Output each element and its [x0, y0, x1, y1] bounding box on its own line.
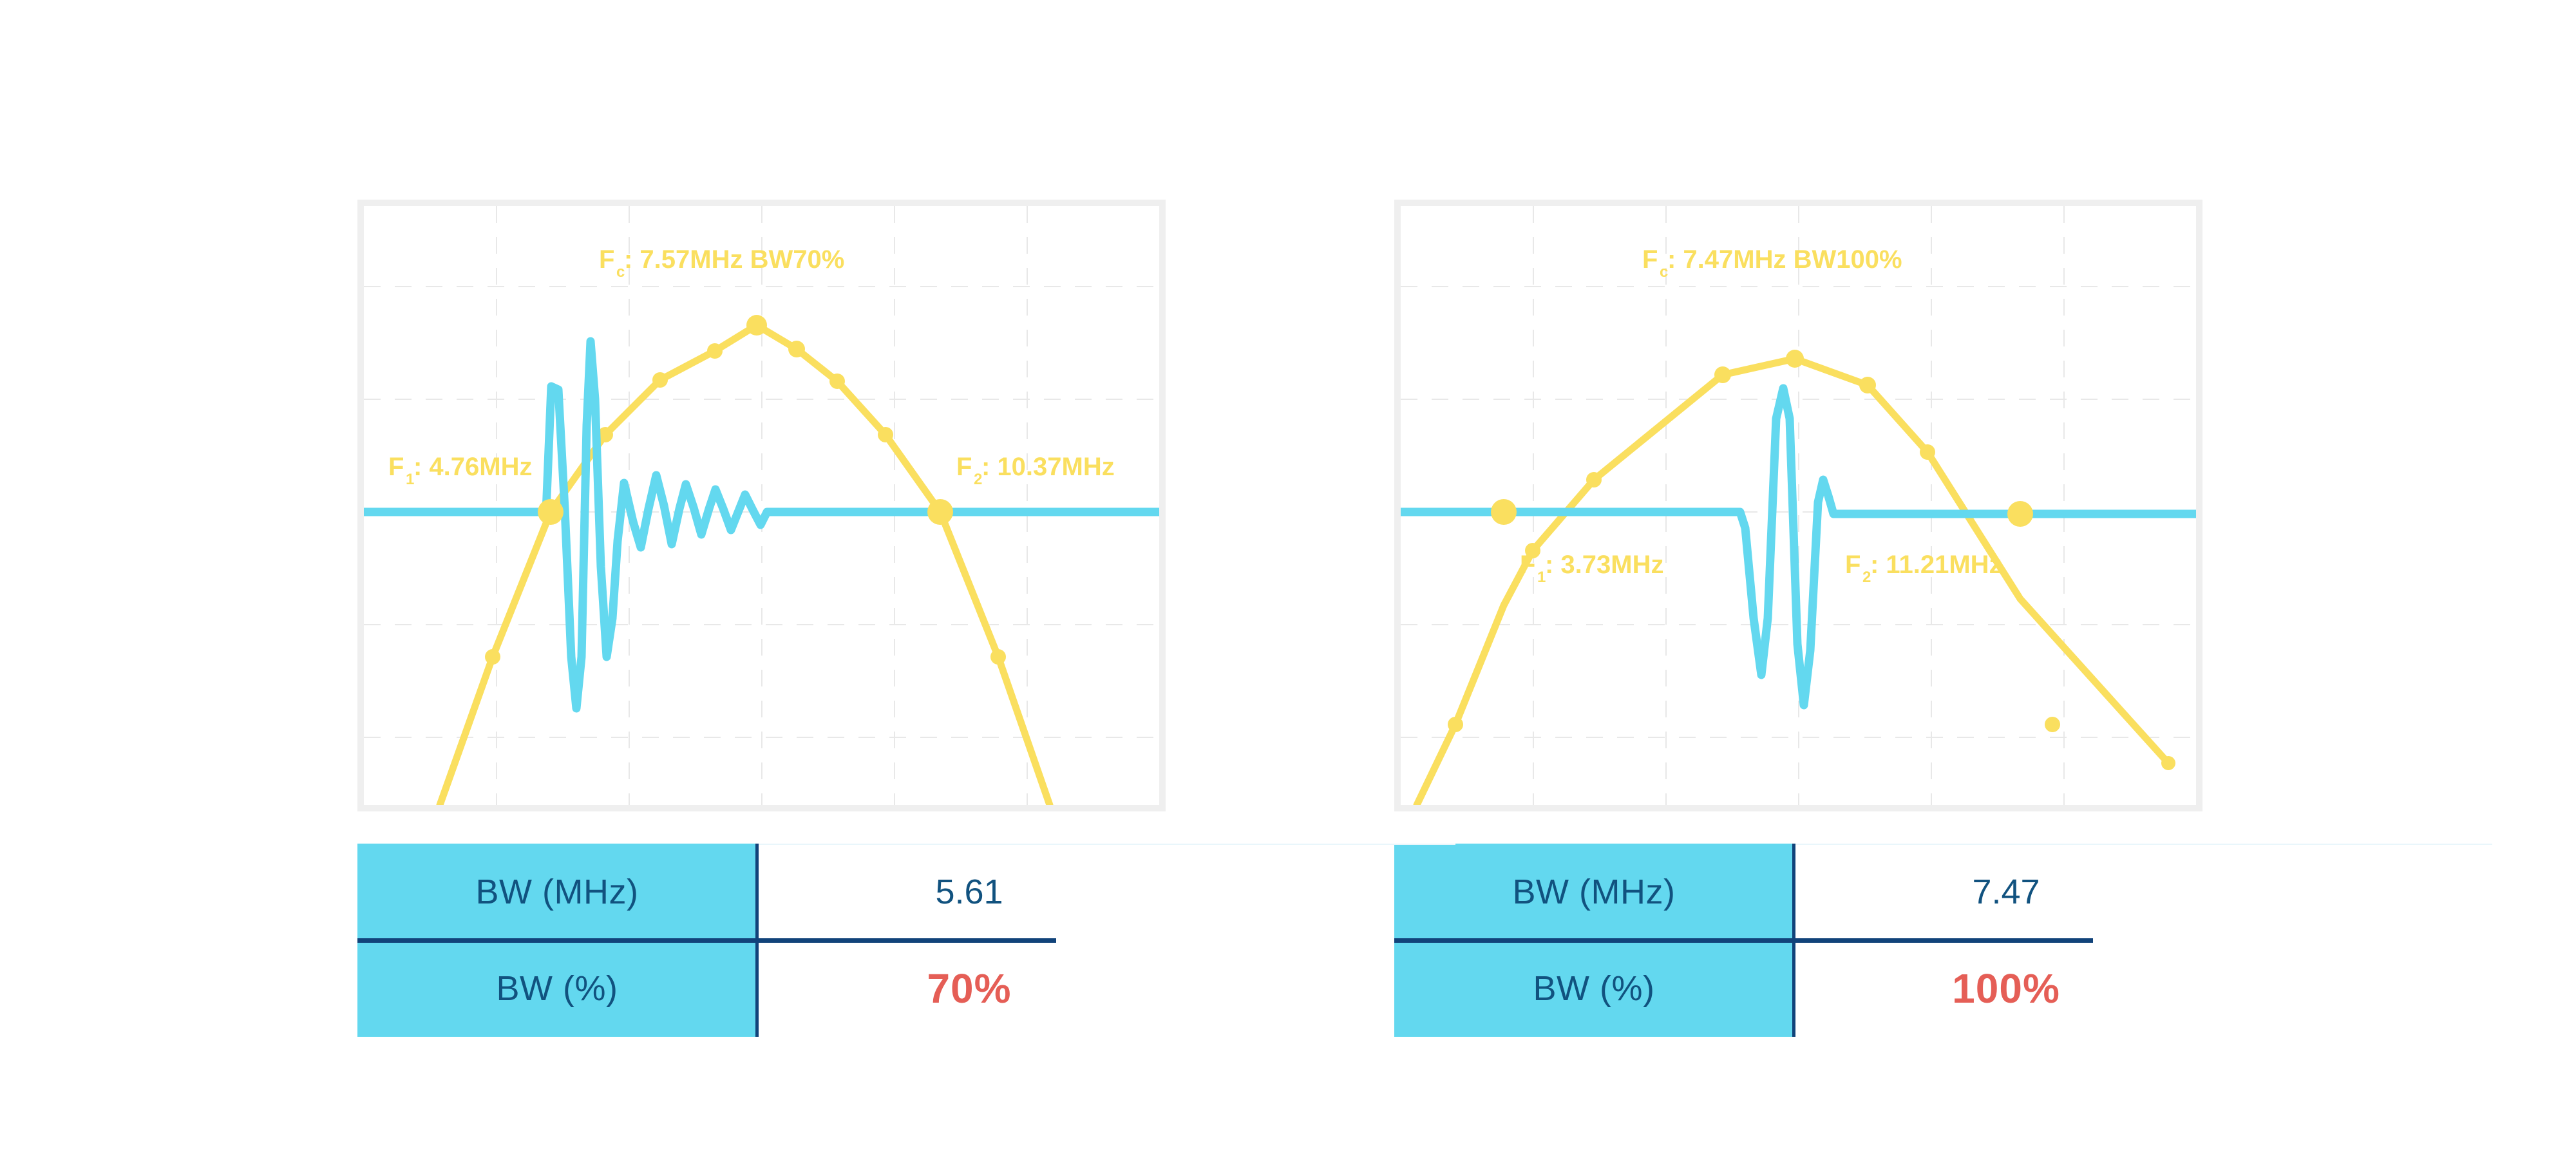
row-value-highlight: 70% — [927, 965, 1011, 1012]
grid-lines — [364, 206, 1159, 805]
table-row: BW (MHz) 5.61 — [357, 844, 1182, 940]
f2-symbol: F — [1845, 551, 1861, 579]
f2-annotation: F 2 : 10.37MHz — [956, 453, 1115, 488]
row-value: 7.47 — [1972, 872, 2040, 912]
f1-annotation: F 1 : 4.76MHz — [388, 453, 533, 488]
table-row: BW (%) 100% — [1394, 940, 2219, 1037]
spectrum-curve — [440, 325, 1050, 805]
f1-symbol: F — [1520, 551, 1535, 579]
chart-frame-right: F c : 7.47MHz BW100% F 1 : 3.73MHz F 2 :… — [1394, 200, 2202, 811]
row-value-highlight: 100% — [1952, 965, 2060, 1012]
row-value-cell-bw-mhz: 5.61 — [757, 844, 1182, 940]
row-value-cell-bw-pct: 70% — [757, 940, 1182, 1037]
row-label: BW (%) — [1533, 969, 1655, 1008]
table-row-divider — [357, 938, 1056, 943]
panel-right: F c : 7.47MHz BW100% F 1 : 3.73MHz F 2 :… — [1282, 0, 2248, 1154]
row-label: BW (%) — [497, 969, 618, 1008]
table-row: BW (MHz) 7.47 — [1394, 844, 2219, 940]
row-label-cell-bw-mhz: BW (MHz) — [1394, 844, 1794, 940]
row-label-cell-bw-pct: BW (%) — [357, 940, 757, 1037]
results-table-left: BW (MHz) 5.61 BW (%) 70% — [357, 844, 1182, 1037]
spectrum-chart-right: F c : 7.47MHz BW100% F 1 : 3.73MHz F 2 :… — [1401, 206, 2196, 805]
row-value-cell-bw-mhz: 7.47 — [1794, 844, 2219, 940]
spectrum-chart-left: F c : 7.57MHz BW70% F 1 : 4.76MHz F 2 : … — [364, 206, 1159, 805]
table-top-hairline — [1794, 844, 2492, 845]
f1-text: : 3.73MHz — [1545, 551, 1664, 579]
f1-annotation: F 1 : 3.73MHz — [1520, 551, 1664, 586]
f1-symbol: F — [388, 453, 404, 481]
table-top-hairline — [757, 844, 1455, 845]
f2-symbol: F — [956, 453, 972, 481]
f2-annotation: F 2 : 11.21MHz — [1845, 551, 2002, 586]
center-frequency-annotation: F c : 7.57MHz BW70% — [599, 245, 844, 281]
grid-lines — [1401, 206, 2196, 805]
f1-text: : 4.76MHz — [413, 453, 533, 481]
center-frequency-annotation: F c : 7.47MHz BW100% — [1642, 245, 1902, 281]
fc-text: : 7.47MHz BW100% — [1667, 245, 1902, 274]
fc-symbol: F — [599, 245, 614, 274]
f2-text: : 11.21MHz — [1870, 551, 2002, 579]
chart-frame-left: F c : 7.57MHz BW70% F 1 : 4.76MHz F 2 : … — [357, 200, 1166, 811]
f2-text: : 10.37MHz — [981, 453, 1115, 481]
figure-canvas: F c : 7.57MHz BW70% F 1 : 4.76MHz F 2 : … — [0, 0, 2576, 1154]
row-value: 5.61 — [935, 872, 1003, 912]
fc-symbol: F — [1642, 245, 1658, 274]
row-value-cell-bw-pct: 100% — [1794, 940, 2219, 1037]
panel-left: F c : 7.57MHz BW70% F 1 : 4.76MHz F 2 : … — [245, 0, 1211, 1154]
row-label: BW (MHz) — [1513, 872, 1676, 912]
fc-text: : 7.57MHz BW70% — [624, 245, 844, 274]
row-label-cell-bw-pct: BW (%) — [1394, 940, 1794, 1037]
row-label-cell-bw-mhz: BW (MHz) — [357, 844, 757, 940]
row-label: BW (MHz) — [476, 872, 639, 912]
table-row-divider — [1394, 938, 2093, 943]
table-row: BW (%) 70% — [357, 940, 1182, 1037]
results-table-right: BW (MHz) 7.47 BW (%) 100% — [1394, 844, 2219, 1037]
